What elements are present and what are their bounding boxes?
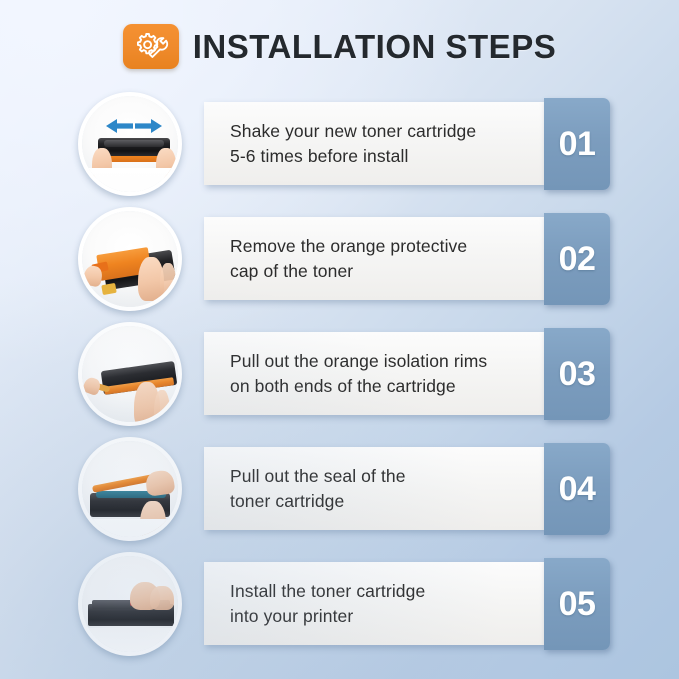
step-row: Remove the orange protective cap of the …: [0, 201, 679, 316]
step-number-badge: 02: [544, 213, 610, 305]
steps-list: Shake your new toner cartridge 5-6 times…: [0, 86, 679, 661]
step-thumbnail: [78, 322, 182, 426]
step-thumbnail: [78, 92, 182, 196]
gear-wrench-icon: [123, 24, 179, 69]
step-thumbnail: [78, 437, 182, 541]
step-number: 02: [559, 242, 596, 276]
step-number-badge: 03: [544, 328, 610, 420]
step-card: Pull out the seal of the toner cartridge: [204, 447, 544, 530]
step-thumbnail: [78, 207, 182, 311]
step-card: Remove the orange protective cap of the …: [204, 217, 544, 300]
step-card: Pull out the orange isolation rims on bo…: [204, 332, 544, 415]
step-number: 04: [559, 472, 596, 506]
shake-photo: [82, 96, 178, 192]
step-row: Shake your new toner cartridge 5-6 times…: [0, 86, 679, 201]
step-text: Install the toner cartridge into your pr…: [230, 579, 425, 629]
step-number: 03: [559, 357, 596, 391]
cap-photo: [82, 211, 178, 307]
seal-photo: [82, 441, 178, 537]
step-card: Shake your new toner cartridge 5-6 times…: [204, 102, 544, 185]
install-photo: [82, 556, 178, 652]
header: INSTALLATION STEPS: [0, 18, 679, 74]
step-text: Pull out the orange isolation rims on bo…: [230, 349, 487, 399]
step-card: Install the toner cartridge into your pr…: [204, 562, 544, 645]
step-number-badge: 01: [544, 98, 610, 190]
page-title: INSTALLATION STEPS: [193, 30, 556, 63]
step-text: Pull out the seal of the toner cartridge: [230, 464, 406, 514]
step-thumbnail: [78, 552, 182, 656]
step-text: Shake your new toner cartridge 5-6 times…: [230, 119, 476, 169]
step-row: Pull out the orange isolation rims on bo…: [0, 316, 679, 431]
step-row: Pull out the seal of the toner cartridge…: [0, 431, 679, 546]
rims-photo: [82, 326, 178, 422]
infographic-page: INSTALLATION STEPS: [0, 0, 679, 679]
step-row: Install the toner cartridge into your pr…: [0, 546, 679, 661]
step-number-badge: 05: [544, 558, 610, 650]
step-number: 05: [559, 587, 596, 621]
step-text: Remove the orange protective cap of the …: [230, 234, 467, 284]
step-number: 01: [559, 127, 596, 161]
step-number-badge: 04: [544, 443, 610, 535]
